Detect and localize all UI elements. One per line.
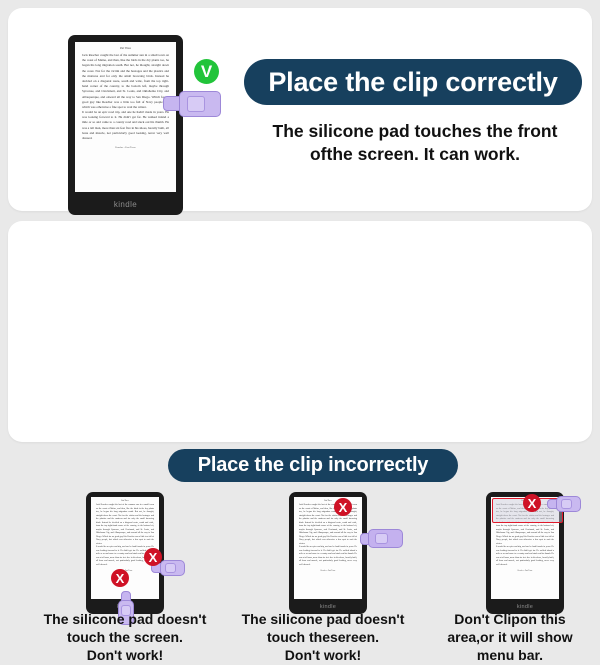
clip-accessory-correct <box>163 90 221 116</box>
error-x-icon: X <box>144 548 162 566</box>
kindle-logo: kindle <box>68 200 183 209</box>
kindle-screen: Part Three Jack Reacher caught the last … <box>75 42 176 192</box>
screen-body-text-2: It would be an epic road trip, and one h… <box>299 546 357 567</box>
incorrect-usage-card: Place the clip incorrectly Part Three Ja… <box>8 221 592 442</box>
wrong-caption-3-line2: area,or it will show <box>412 628 600 646</box>
infographic-stage: Part Three Jack Reacher caught the last … <box>0 0 600 450</box>
clip-silicone-pad <box>187 96 205 112</box>
wrong-caption-3-line1: Don't Clipon this <box>412 610 600 628</box>
wrong-caption-1: The silicone pad doesn't touch the scree… <box>27 610 223 665</box>
wrong-caption-2-line1: The silicone pad doesn't <box>225 610 421 628</box>
banner-place-clip-correctly: Place the clip correctly <box>244 59 582 105</box>
screen-body-text-2: It would be an epic road trip, and one h… <box>496 546 554 567</box>
correct-caption: The silicone pad touches the front ofthe… <box>240 120 590 166</box>
kindle-device-correct: Part Three Jack Reacher caught the last … <box>68 35 183 215</box>
clip-silicone-pad <box>165 563 176 573</box>
screen-footer: Reacher : Past Tense <box>497 570 553 572</box>
wrong-caption-2-line3: Don't work! <box>225 646 421 664</box>
wrong-caption-2: The silicone pad doesn't touch thesereen… <box>225 610 421 665</box>
wrong-caption-1-line2: touch the screen. <box>27 628 223 646</box>
error-x-icon: X <box>111 569 129 587</box>
screen-footer: Reacher : Past Tense <box>83 146 168 149</box>
kindle-screen: Part Three Jack Reacher caught the last … <box>294 497 362 599</box>
wrong-caption-1-line3: Don't work! <box>27 646 223 664</box>
screen-body-text: Jack Reacher caught the last of the summ… <box>82 53 169 110</box>
correct-usage-card: Part Three Jack Reacher caught the last … <box>8 8 592 211</box>
banner-place-clip-incorrectly: Place the clip incorrectly <box>168 449 458 482</box>
screen-body-text: Jack Reacher caught the last of the summ… <box>96 504 154 546</box>
clip-accessory-wrong-3 <box>547 496 580 511</box>
wrong-caption-3-line3: menu bar. <box>412 646 600 664</box>
screen-header: Part Three <box>97 500 153 502</box>
correct-caption-line2: ofthe screen. It can work. <box>240 143 590 166</box>
screen-body-text-2: It would be an epic road trip, and one h… <box>82 110 169 141</box>
clip-silicone-pad <box>375 533 388 544</box>
wrong-caption-3: Don't Clipon this area,or it will show m… <box>412 610 600 665</box>
screen-footer: Reacher : Past Tense <box>300 570 356 572</box>
screen-header: Part Three <box>83 47 168 50</box>
wrong-caption-1-line1: The silicone pad doesn't <box>27 610 223 628</box>
error-x-icon: X <box>523 494 541 512</box>
wrong-caption-2-line2: touch thesereen. <box>225 628 421 646</box>
kindle-device-wrong-2: Part Three Jack Reacher caught the last … <box>289 492 367 614</box>
clip-accessory-wrong-2 <box>360 529 402 547</box>
checkmark-icon: V <box>194 59 219 84</box>
error-x-icon: X <box>334 498 352 516</box>
correct-caption-line1: The silicone pad touches the front <box>240 120 590 143</box>
clip-silicone-pad <box>561 499 572 509</box>
